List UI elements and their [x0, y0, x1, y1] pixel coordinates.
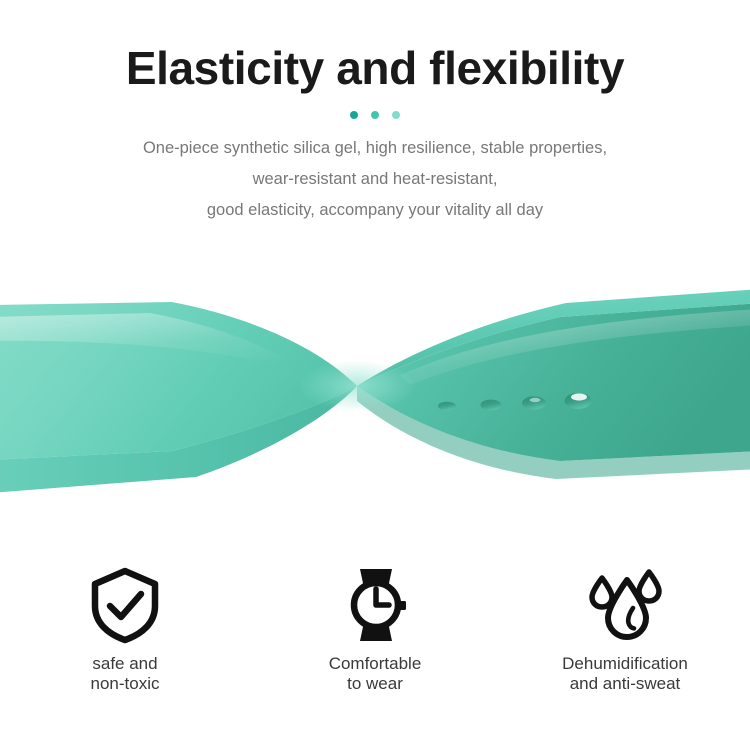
- adjustment-hole-1: [438, 402, 456, 411]
- subtitle-paragraph: One-piece synthetic silica gel, high res…: [0, 120, 750, 226]
- feature-comfortable-to-wear: Comfortable to wear: [250, 566, 500, 694]
- adjustment-hole-2: [481, 400, 502, 411]
- product-feature-page: Elasticity and flexibility One-piece syn…: [0, 0, 750, 750]
- wristwatch-icon: [335, 566, 415, 644]
- feature-caption-line-1: Dehumidification: [562, 654, 688, 674]
- feature-caption-line-2: to wear: [329, 674, 422, 694]
- feature-caption-line-1: safe and: [91, 654, 160, 674]
- dot-3-icon: [392, 111, 400, 119]
- feature-caption-line-2: non-toxic: [91, 674, 160, 694]
- feature-caption: Dehumidification and anti-sweat: [562, 654, 688, 694]
- subtitle-line-1: One-piece synthetic silica gel, high res…: [0, 133, 750, 164]
- dot-1-icon: [350, 111, 358, 119]
- feature-caption-line-1: Comfortable: [329, 654, 422, 674]
- dot-separator: [0, 110, 750, 120]
- feature-row: safe and non-toxic: [0, 566, 750, 716]
- feature-caption: safe and non-toxic: [91, 654, 160, 694]
- band-twist-point: [299, 360, 415, 412]
- feature-caption-line-2: and anti-sweat: [562, 674, 688, 694]
- feature-dehumidification-anti-sweat: Dehumidification and anti-sweat: [500, 566, 750, 694]
- product-image-twisted-band: [0, 255, 750, 545]
- adjustment-hole-4-glint: [571, 393, 587, 400]
- subtitle-line-3: good elasticity, accompany your vitality…: [0, 195, 750, 226]
- feature-caption: Comfortable to wear: [329, 654, 422, 694]
- water-droplets-icon: [584, 566, 666, 644]
- dot-2-icon: [371, 111, 379, 119]
- page-title: Elasticity and flexibility: [0, 0, 750, 93]
- header: Elasticity and flexibility One-piece syn…: [0, 0, 750, 226]
- shield-check-icon: [88, 566, 162, 644]
- feature-safe-and-non-toxic: safe and non-toxic: [0, 566, 250, 694]
- subtitle-line-2: wear-resistant and heat-resistant,: [0, 164, 750, 195]
- adjustment-hole-3-glint: [530, 398, 541, 402]
